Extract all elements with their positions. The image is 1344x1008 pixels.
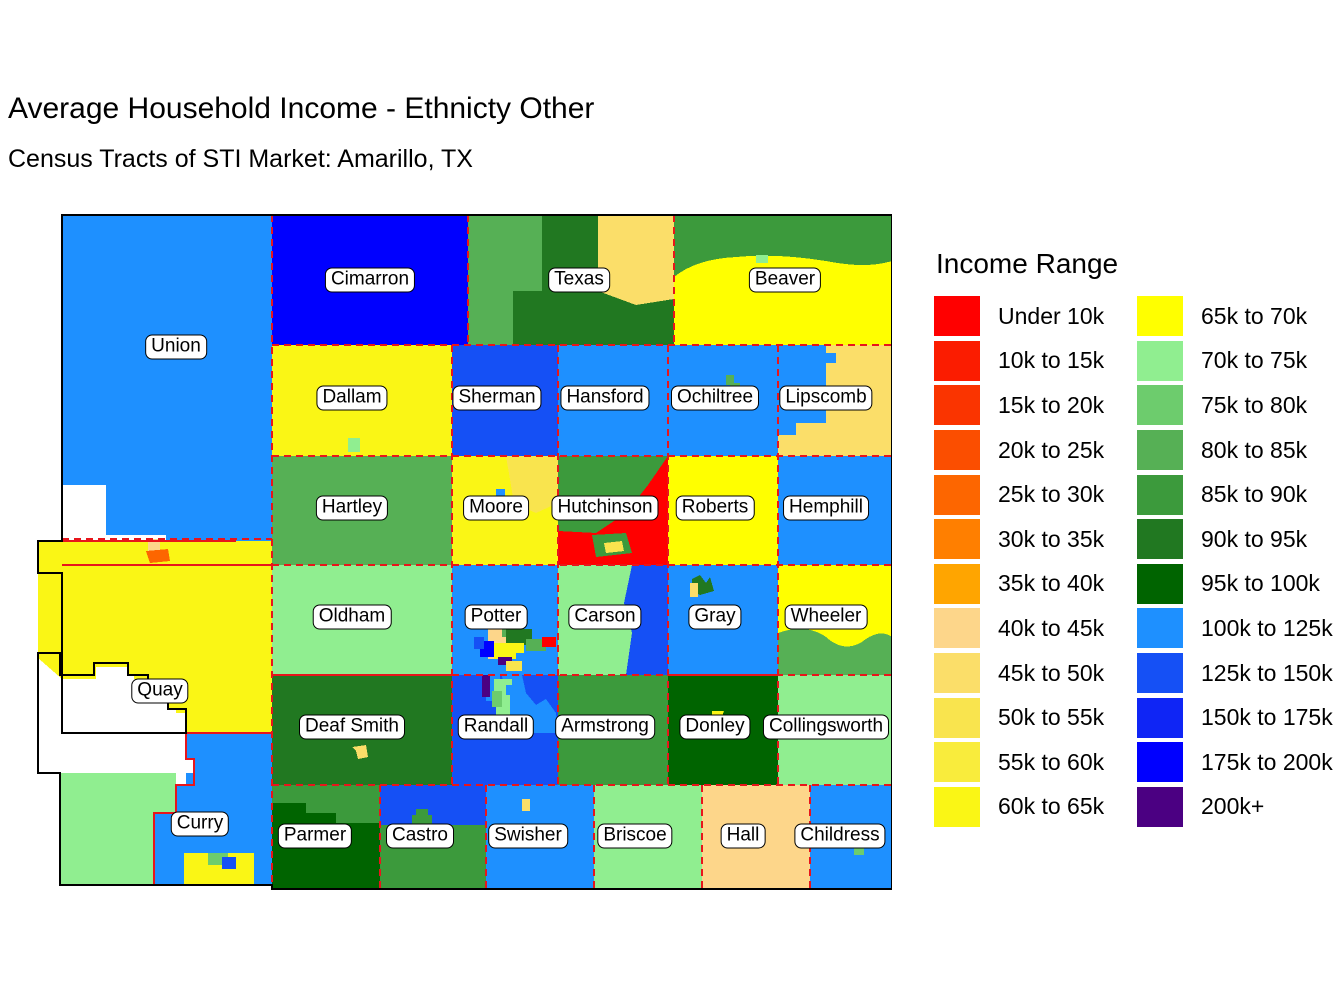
legend-item[interactable]: 20k to 25k [934,428,1137,473]
legend-label: 175k to 200k [1201,749,1333,776]
legend-label: 55k to 60k [998,749,1104,776]
legend-label: 40k to 45k [998,615,1104,642]
legend-swatch [934,787,980,827]
map-polygons [36,215,892,889]
legend-label: 65k to 70k [1201,303,1307,330]
tract-texas-w2 [468,313,513,345]
county-label-hutchinson: Hutchinson [551,496,658,521]
legend-label: 200k+ [1201,793,1264,820]
county-label-curry: Curry [171,812,229,837]
county-label-castro: Castro [386,824,454,849]
legend-item[interactable]: 65k to 70k [1137,294,1340,339]
legend-label: 75k to 80k [1201,392,1307,419]
county-label-hansford: Hansford [560,386,649,411]
legend-item[interactable]: Under 10k [934,294,1137,339]
legend-item[interactable]: 25k to 30k [934,472,1137,517]
county-label-moore: Moore [463,496,529,521]
county-label-cimarron: Cimarron [325,268,415,293]
legend-swatch [934,698,980,738]
choropleth-map[interactable]: Union Cimarron Texas Beaver Dallam Sherm… [36,213,892,891]
legend-item[interactable]: 80k to 85k [1137,428,1340,473]
legend-swatch [934,475,980,515]
legend-swatch [1137,430,1183,470]
legend-item[interactable]: 200k+ [1137,785,1340,830]
legend-label: 50k to 55k [998,704,1104,731]
legend-swatch [1137,608,1183,648]
legend-swatch [934,341,980,381]
legend: Income Range Under 10k 10k to 15k 15k to… [934,248,1340,829]
county-label-dallam: Dallam [316,386,387,411]
legend-label: 15k to 20k [998,392,1104,419]
county-label-quay: Quay [131,679,188,704]
tract-quay-spot-b [146,549,170,563]
county-label-gray: Gray [688,605,741,630]
legend-swatch [934,653,980,693]
legend-item[interactable]: 100k to 125k [1137,606,1340,651]
legend-label: 10k to 15k [998,347,1104,374]
legend-swatch [1137,296,1183,336]
legend-label: 20k to 25k [998,437,1104,464]
legend-label: 30k to 35k [998,526,1104,553]
legend-item[interactable]: 90k to 95k [1137,517,1340,562]
legend-label: 70k to 75k [1201,347,1307,374]
county-label-randall: Randall [458,715,534,740]
legend-label: 150k to 175k [1201,704,1333,731]
county-label-ochiltree: Ochiltree [671,386,759,411]
legend-swatch [1137,698,1183,738]
county-label-wheeler: Wheeler [785,605,868,630]
county-label-briscoe: Briscoe [597,824,672,849]
legend-swatch [1137,787,1183,827]
legend-item[interactable]: 35k to 40k [934,562,1137,607]
legend-swatch [1137,385,1183,425]
legend-label: 80k to 85k [1201,437,1307,464]
legend-swatch [934,564,980,604]
legend-item[interactable]: 75k to 80k [1137,383,1340,428]
legend-label: 45k to 50k [998,660,1104,687]
page-title: Average Household Income - Ethnicty Othe… [8,92,594,126]
county-label-hall: Hall [721,824,766,849]
legend-title: Income Range [936,248,1340,280]
legend-item[interactable]: 150k to 175k [1137,695,1340,740]
tract-texas-ne [598,215,674,305]
legend-column-1: Under 10k 10k to 15k 15k to 20k 20k to 2… [934,294,1137,829]
legend-label: 125k to 150k [1201,660,1333,687]
legend-column-2: 65k to 70k 70k to 75k 75k to 80k 80k to … [1137,294,1340,829]
legend-item[interactable]: 60k to 65k [934,785,1137,830]
legend-item[interactable]: 30k to 35k [934,517,1137,562]
legend-swatch [934,296,980,336]
county-label-potter: Potter [465,605,528,630]
county-label-armstrong: Armstrong [555,715,655,740]
county-label-donley: Donley [679,715,750,740]
tract-gray-spot2 [690,583,698,597]
legend-item[interactable]: 10k to 15k [934,339,1137,384]
tract-curry-spot2 [222,857,236,869]
legend-item[interactable]: 50k to 55k [934,695,1137,740]
legend-swatch [934,742,980,782]
legend-swatch [934,385,980,425]
legend-item[interactable]: 70k to 75k [1137,339,1340,384]
county-label-childress: Childress [794,824,885,849]
legend-swatch [1137,742,1183,782]
legend-item[interactable]: 95k to 100k [1137,562,1340,607]
county-label-union: Union [145,335,207,360]
legend-label: 60k to 65k [998,793,1104,820]
legend-label: 90k to 95k [1201,526,1307,553]
legend-label: 100k to 125k [1201,615,1333,642]
county-label-parmer: Parmer [278,824,352,849]
legend-swatch [1137,564,1183,604]
legend-item[interactable]: 175k to 200k [1137,740,1340,785]
legend-swatch [1137,519,1183,559]
county-label-roberts: Roberts [676,496,755,521]
county-label-hartley: Hartley [316,496,388,521]
legend-item[interactable]: 40k to 45k [934,606,1137,651]
legend-label: Under 10k [998,303,1104,330]
county-label-sherman: Sherman [452,386,541,411]
legend-label: 35k to 40k [998,570,1104,597]
legend-label: 85k to 90k [1201,481,1307,508]
legend-swatch [934,608,980,648]
legend-swatch [1137,475,1183,515]
county-label-collingsworth: Collingsworth [763,715,889,740]
legend-label: 95k to 100k [1201,570,1320,597]
legend-item[interactable]: 55k to 60k [934,740,1137,785]
legend-item[interactable]: 15k to 20k [934,383,1137,428]
county-label-beaver: Beaver [749,268,821,293]
county-label-lipscomb: Lipscomb [779,386,872,411]
tract-swisher-spot [522,799,530,811]
tract-dallam-spot [348,438,360,452]
tract-beaver-spot [756,255,768,263]
county-label-carson: Carson [568,605,641,630]
legend-item[interactable]: 85k to 90k [1137,472,1340,517]
legend-swatch [1137,653,1183,693]
legend-item[interactable]: 45k to 50k [934,651,1137,696]
county-label-deaf-smith: Deaf Smith [299,715,405,740]
county-label-hemphill: Hemphill [783,496,869,521]
legend-swatch [934,519,980,559]
page-subtitle: Census Tracts of STI Market: Amarillo, T… [8,145,473,174]
legend-swatch [1137,341,1183,381]
county-label-oldham: Oldham [313,605,392,630]
legend-swatch [934,430,980,470]
county-label-texas: Texas [548,268,610,293]
legend-item[interactable]: 125k to 150k [1137,651,1340,696]
tract-texas-c2 [513,291,598,345]
county-label-swisher: Swisher [488,824,568,849]
legend-label: 25k to 30k [998,481,1104,508]
tract-hutchinson-yellow-isl [604,541,624,553]
